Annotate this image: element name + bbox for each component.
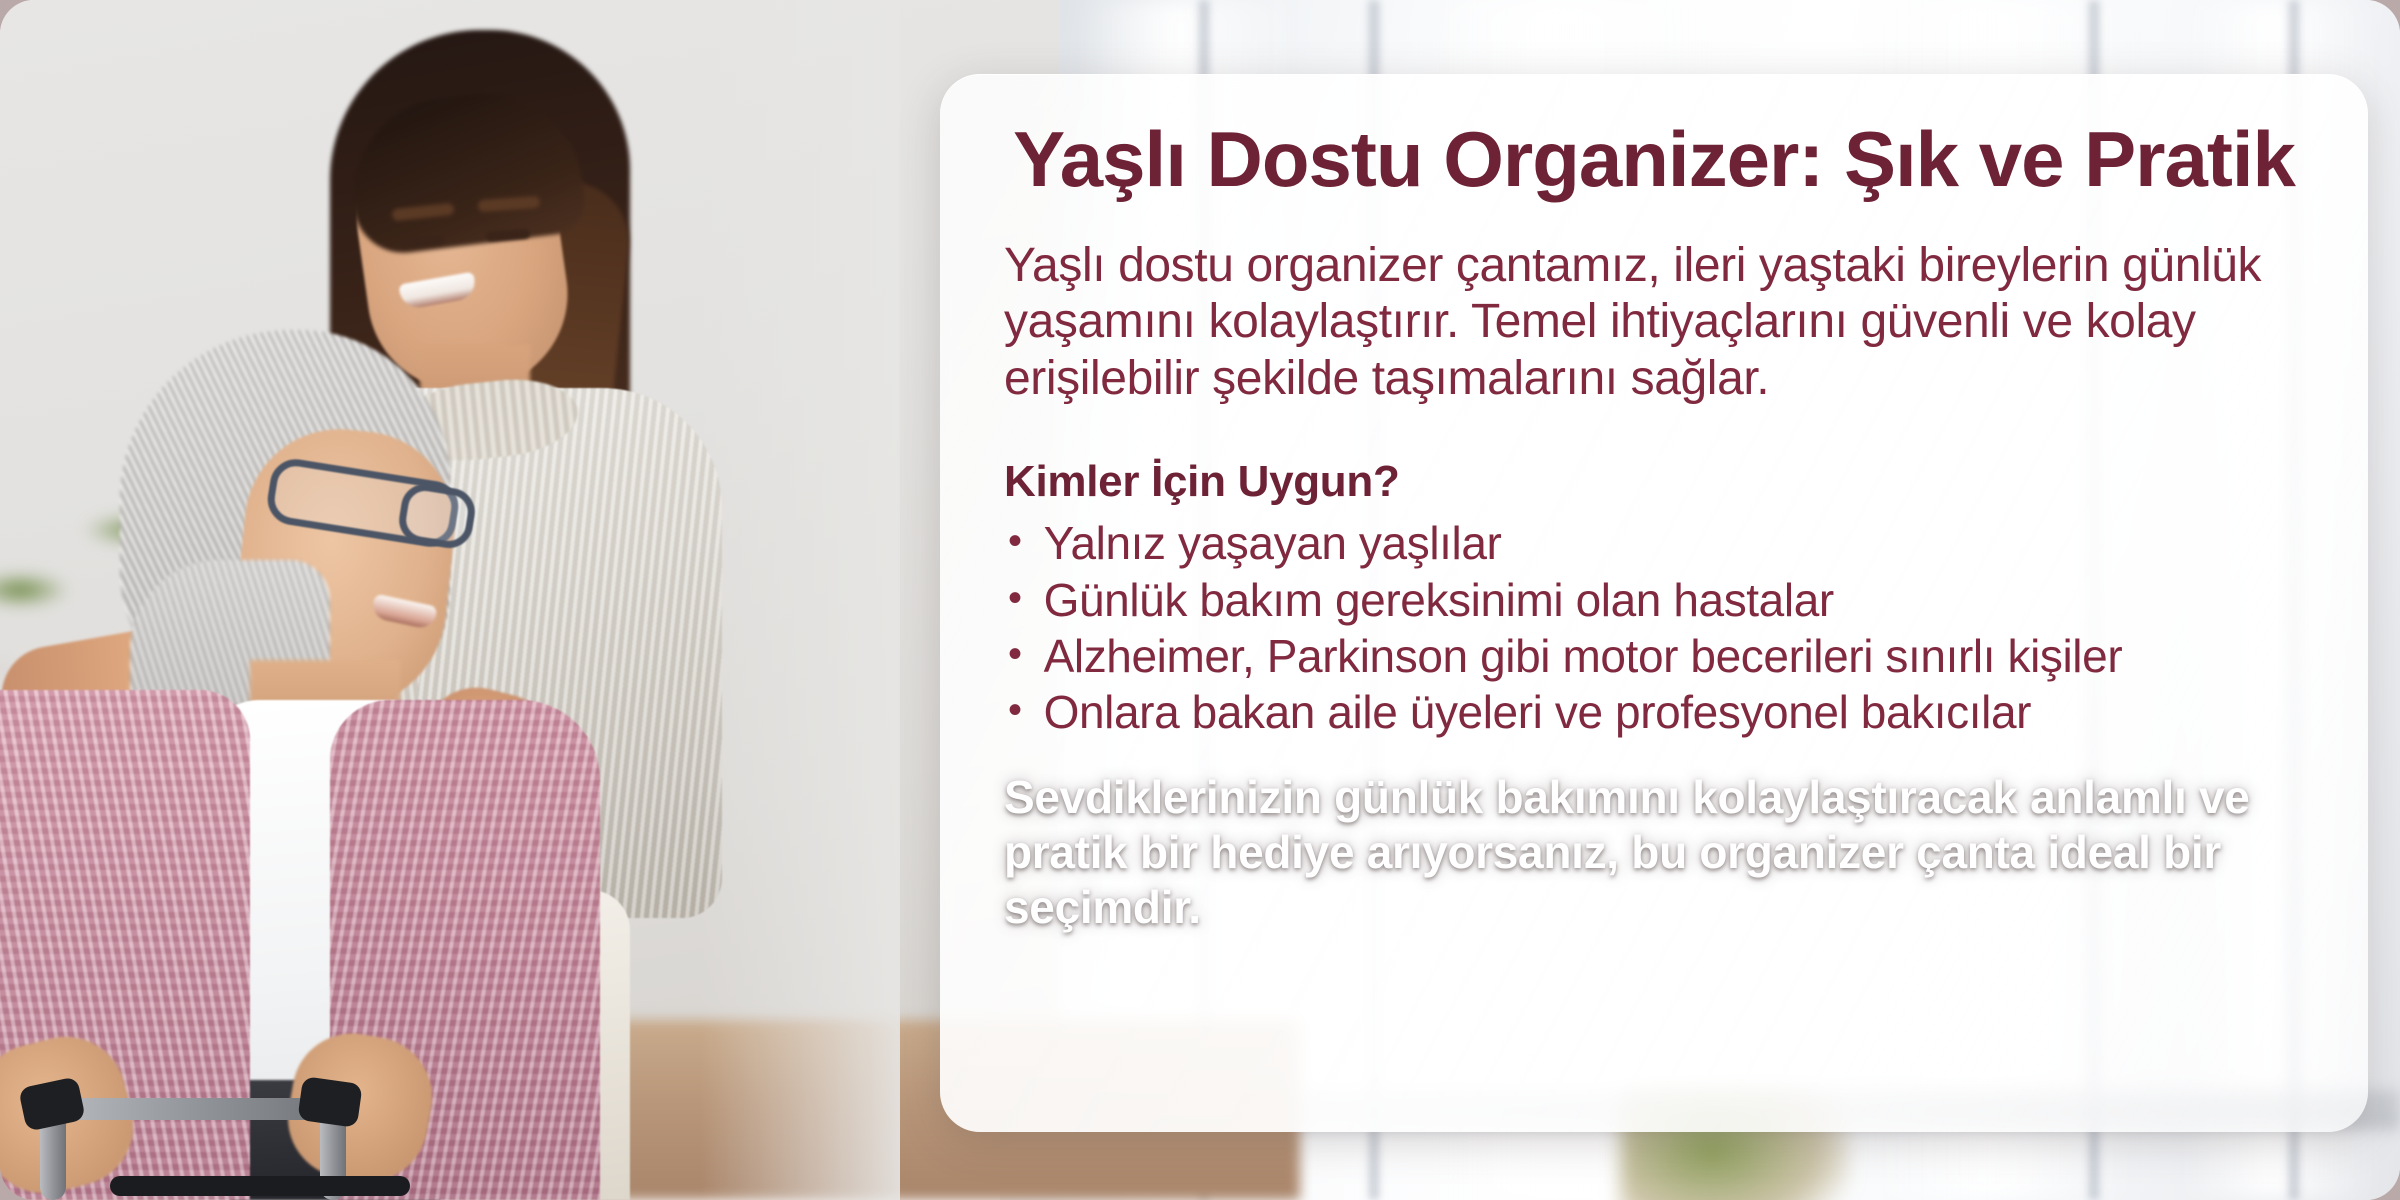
list-item-label: Yalnız yaşayan yaşlılar [1044,515,2304,571]
page-title: Yaşlı Dostu Organizer: Şık ve Pratik [1004,120,2304,200]
lead-paragraph: Yaşlı dostu organizer çantamız, ileri ya… [1004,238,2304,408]
closing-paragraph: Sevdiklerinizin günlük bakımını kolaylaş… [1004,770,2304,936]
list-item-label: Onlara bakan aile üyeleri ve profesyonel… [1044,684,2304,740]
list-item-label: Günlük bakım gereksinimi olan hastalar [1044,572,2304,628]
list-item: • Alzheimer, Parkinson gibi motor beceri… [1004,628,2304,684]
promo-banner: Yaşlı Dostu Organizer: Şık ve Pratik Yaş… [0,0,2400,1200]
photo-edge-fade [700,0,900,1200]
bullet-icon: • [1008,684,1022,738]
info-card: Yaşlı Dostu Organizer: Şık ve Pratik Yaş… [940,74,2368,1132]
bullet-icon: • [1008,572,1022,626]
audience-subheading: Kimler İçin Uygun? [1004,457,2304,507]
list-item-label: Alzheimer, Parkinson gibi motor becerile… [1044,628,2304,684]
list-item: • Günlük bakım gereksinimi olan hastalar [1004,572,2304,628]
list-item: • Yalnız yaşayan yaşlılar [1004,515,2304,571]
bullet-icon: • [1008,628,1022,682]
bullet-icon: • [1008,515,1022,569]
list-item: • Onlara bakan aile üyeleri ve profesyon… [1004,684,2304,740]
hero-photo [0,0,900,1200]
audience-list: • Yalnız yaşayan yaşlılar • Günlük bakım… [1004,515,2304,739]
walking-frame [0,1080,460,1200]
